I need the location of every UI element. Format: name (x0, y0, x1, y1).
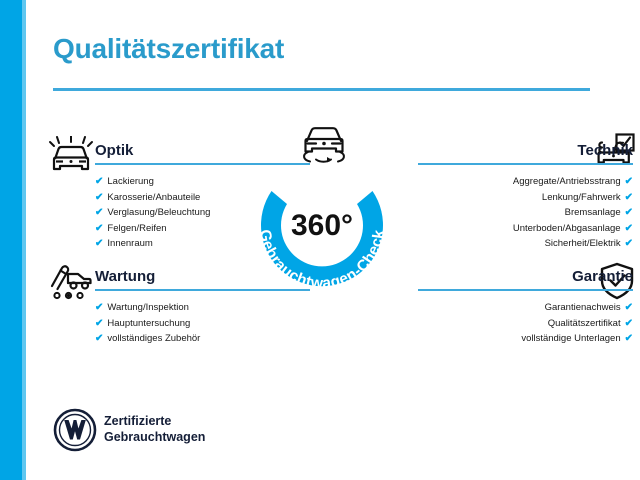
badge-center-label: 360° (248, 152, 396, 300)
list-item: Bremsanlage✔ (418, 205, 633, 221)
check-icon: ✔ (625, 192, 633, 203)
list-item-label: Lenkung/Fahrwerk (542, 192, 621, 203)
list-item-label: Lackierung (107, 176, 153, 187)
list-item-label: Karosserie/Anbauteile (107, 192, 200, 203)
360-check-badge: Gebrauchtwagen-Check 360° (248, 152, 396, 300)
list-item-label: vollständiges Zubehör (107, 333, 200, 344)
check-icon: ✔ (95, 223, 103, 234)
page-title: Qualitätszertifikat (53, 33, 284, 65)
section-garantie: Garantie Garantienachweis✔ Qualitätszert… (418, 268, 633, 347)
check-icon: ✔ (95, 192, 103, 203)
list-item-label: Verglasung/Beleuchtung (107, 207, 210, 218)
check-icon: ✔ (95, 176, 103, 187)
check-icon: ✔ (625, 318, 633, 329)
footer-text: Zertifizierte Gebrauchtwagen (104, 413, 205, 445)
checklist-wartung: ✔Wartung/Inspektion ✔Hauptuntersuchung ✔… (95, 300, 310, 347)
vw-logo (53, 408, 97, 452)
list-item-label: Felgen/Reifen (107, 223, 166, 234)
checklist-technik: Aggregate/Antriebsstrang✔ Lenkung/Fahrwe… (418, 174, 633, 252)
list-item: Aggregate/Antriebsstrang✔ (418, 174, 633, 190)
check-icon: ✔ (625, 223, 633, 234)
list-item: Garantienachweis✔ (418, 300, 633, 316)
list-item: vollständige Unterlagen✔ (418, 331, 633, 347)
check-icon: ✔ (95, 302, 103, 313)
car-shine-icon (48, 136, 94, 174)
section-divider-garantie (418, 289, 633, 291)
quality-certificate-page: Qualitätszertifikat (0, 0, 640, 480)
list-item-label: vollständige Unterlagen (521, 333, 620, 344)
section-divider-technik (418, 163, 633, 165)
check-icon: ✔ (625, 333, 633, 344)
list-item: Qualitätszertifikat✔ (418, 316, 633, 332)
left-edge-accent-bar (0, 0, 22, 480)
list-item-label: Aggregate/Antriebsstrang (513, 176, 621, 187)
list-item: Lenkung/Fahrwerk✔ (418, 190, 633, 206)
list-item: Unterboden/Abgasanlage✔ (418, 221, 633, 237)
list-item-label: Wartung/Inspektion (107, 302, 189, 313)
check-icon: ✔ (625, 176, 633, 187)
section-heading-garantie: Garantie (418, 268, 633, 289)
list-item: ✔Wartung/Inspektion (95, 300, 310, 316)
check-icon: ✔ (625, 207, 633, 218)
list-item-label: Innenraum (107, 238, 152, 249)
list-item-label: Garantienachweis (545, 302, 621, 313)
check-icon: ✔ (95, 333, 103, 344)
check-icon: ✔ (95, 238, 103, 249)
list-item-label: Hauptuntersuchung (107, 318, 190, 329)
left-edge-accent-bar-light (22, 0, 26, 480)
list-item: ✔vollständiges Zubehör (95, 331, 310, 347)
section-technik: Technik Aggregate/Antriebsstrang✔ Lenkun… (418, 142, 633, 252)
list-item: Sicherheit/Elektrik✔ (418, 236, 633, 252)
car-front-rotate-icon (296, 122, 352, 168)
check-icon: ✔ (625, 302, 633, 313)
checklist-garantie: Garantienachweis✔ Qualitätszertifikat✔ v… (418, 300, 633, 347)
footer-line-1: Zertifizierte (104, 413, 205, 429)
check-icon: ✔ (625, 238, 633, 249)
footer-line-2: Gebrauchtwagen (104, 429, 205, 445)
car-lift-icon (48, 262, 94, 300)
list-item: ✔Hauptuntersuchung (95, 316, 310, 332)
check-icon: ✔ (95, 318, 103, 329)
list-item-label: Unterboden/Abgasanlage (513, 223, 621, 234)
section-heading-technik: Technik (418, 142, 633, 163)
list-item-label: Qualitätszertifikat (548, 318, 621, 329)
list-item-label: Bremsanlage (565, 207, 621, 218)
check-icon: ✔ (95, 207, 103, 218)
list-item-label: Sicherheit/Elektrik (545, 238, 621, 249)
title-divider (53, 88, 590, 91)
